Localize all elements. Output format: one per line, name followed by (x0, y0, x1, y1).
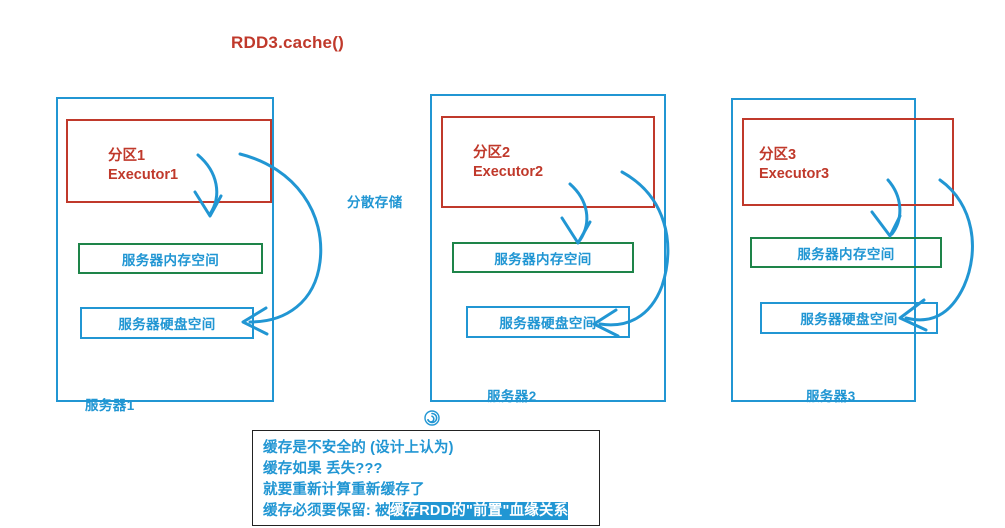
disk-box-3: 服务器硬盘空间 (760, 302, 938, 334)
note-line-1: 缓存是不安全的 (设计上认为) (263, 438, 599, 459)
note-line-4-highlight: 缓存RDD的"前置"血缘关系 (390, 502, 568, 520)
server-caption-1: 服务器1 (85, 394, 135, 414)
memory-box-3: 服务器内存空间 (750, 237, 942, 268)
memory-label-1: 服务器内存空间 (122, 249, 219, 269)
distributed-storage-label: 分散存储 (347, 191, 403, 211)
memory-label-2: 服务器内存空间 (494, 248, 591, 268)
note-line-4-prefix: 缓存必须要保留: 被 (263, 503, 390, 519)
executor-label-2: Executor2 (473, 163, 653, 182)
partition-label-3: 分区3 (759, 146, 952, 165)
memory-box-1: 服务器内存空间 (78, 243, 263, 274)
disk-box-1: 服务器硬盘空间 (80, 307, 254, 339)
disk-label-3: 服务器硬盘空间 (800, 308, 897, 328)
executor-box-1: 分区1 Executor1 (66, 119, 272, 203)
note-box: 缓存是不安全的 (设计上认为) 缓存如果 丢失??? 就要重新计算重新缓存了 缓… (252, 430, 600, 526)
note-line-4: 缓存必须要保留: 被缓存RDD的"前置"血缘关系 (263, 501, 599, 522)
memory-label-3: 服务器内存空间 (797, 243, 894, 263)
server-caption-2: 服务器2 (487, 385, 537, 405)
disk-label-2: 服务器硬盘空间 (499, 312, 596, 332)
executor-box-3: 分区3 Executor3 (742, 118, 954, 206)
spiral-icon (424, 410, 440, 426)
memory-box-2: 服务器内存空间 (452, 242, 634, 273)
note-line-3: 就要重新计算重新缓存了 (263, 480, 599, 501)
executor-label-1: Executor1 (108, 166, 270, 185)
server-caption-3: 服务器3 (806, 385, 856, 405)
partition-label-2: 分区2 (473, 144, 653, 163)
disk-label-1: 服务器硬盘空间 (118, 313, 215, 333)
partition-label-1: 分区1 (108, 147, 270, 166)
diagram-canvas: RDD3.cache() 分区1 Executor1 服务器内存空间 服务器硬盘… (0, 0, 1005, 528)
page-title: RDD3.cache() (231, 33, 344, 53)
note-line-2: 缓存如果 丢失??? (263, 459, 599, 480)
executor-box-2: 分区2 Executor2 (441, 116, 655, 208)
disk-box-2: 服务器硬盘空间 (466, 306, 630, 338)
executor-label-3: Executor3 (759, 165, 952, 184)
